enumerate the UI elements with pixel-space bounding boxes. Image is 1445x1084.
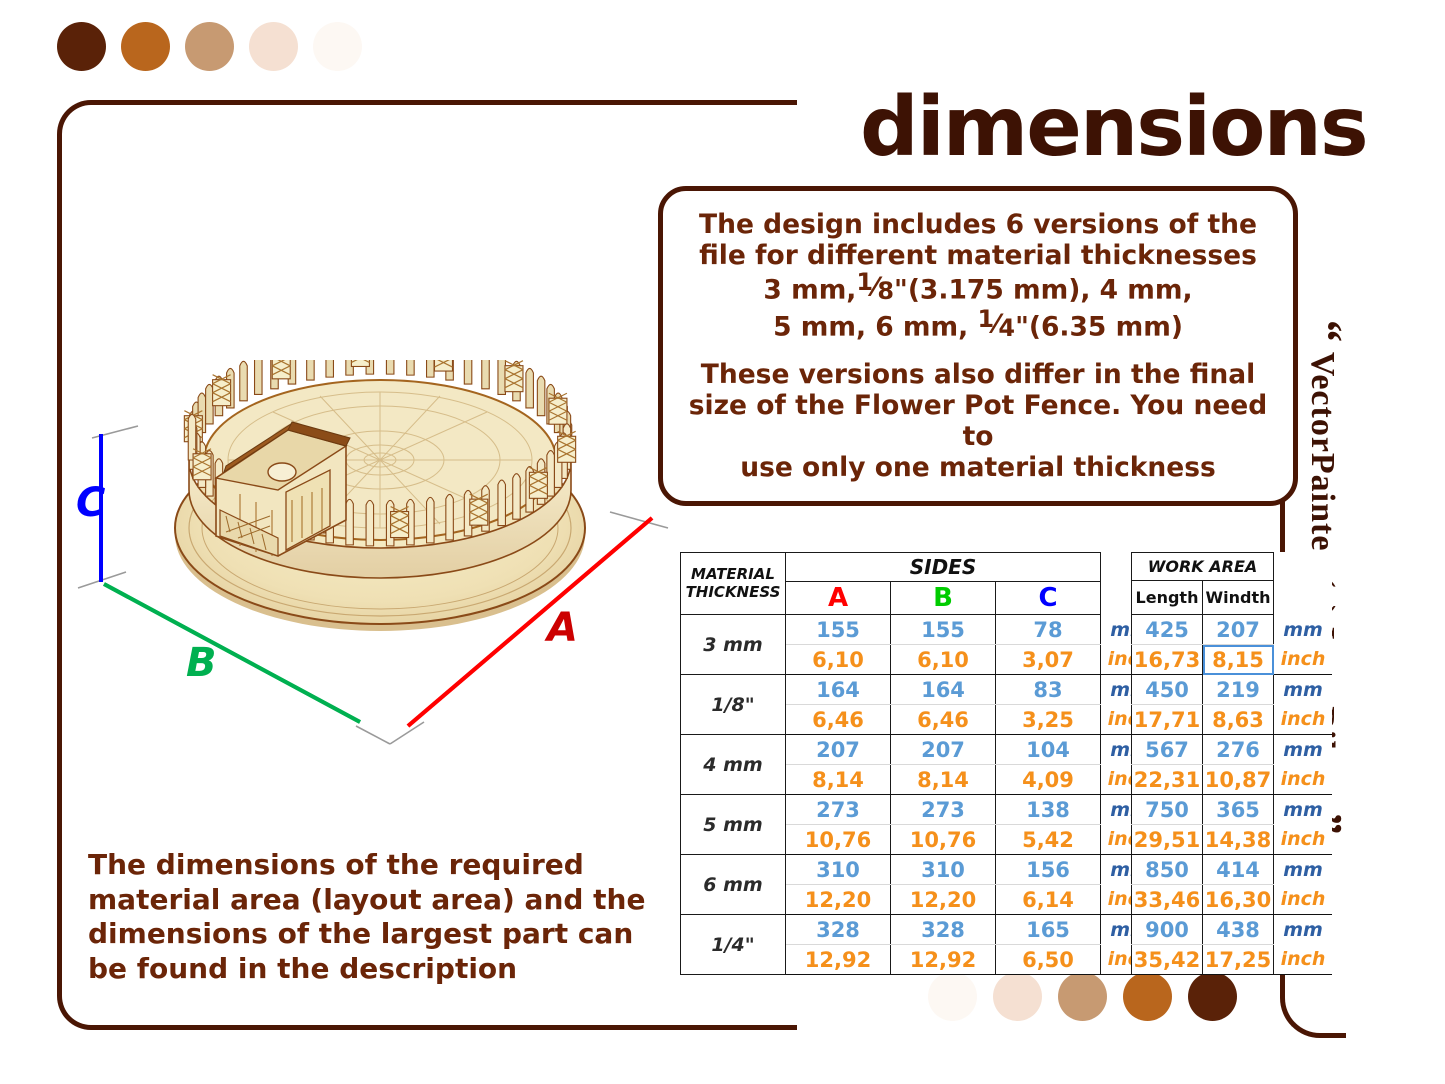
- fence-picket: [482, 360, 490, 389]
- table-row: 900438mm: [1132, 915, 1333, 945]
- value-cell-mm: 276: [1203, 735, 1274, 765]
- table-row: 17,718,63inch: [1132, 705, 1333, 735]
- fence-lattice-panel: [213, 375, 231, 406]
- table-row: 750365mm: [1132, 795, 1333, 825]
- value-cell-mm: 273: [786, 795, 891, 825]
- table-row: 35,4217,25inch: [1132, 945, 1333, 975]
- dimension-label-b: B: [186, 640, 217, 686]
- table-row: 16,738,15inch: [1132, 645, 1333, 675]
- unit-label-mm: mm: [1274, 915, 1333, 945]
- value-cell-mm: 328: [786, 915, 891, 945]
- material-thickness-cell: 1/8": [681, 675, 786, 735]
- fence-picket: [206, 384, 214, 424]
- fence-picket: [537, 376, 545, 416]
- material-thickness-cell: 5 mm: [681, 795, 786, 855]
- value-cell-inch: 33,46: [1132, 885, 1203, 915]
- value-cell-inch: 3,25: [996, 705, 1101, 735]
- value-cell-mm: 164: [786, 675, 891, 705]
- value-cell-mm: 414: [1203, 855, 1274, 885]
- fence-picket: [427, 497, 435, 543]
- group-header-sides: SIDES: [786, 553, 1101, 582]
- table-row: 1/8"16416483mm: [681, 675, 1160, 705]
- value-cell-inch: 6,10: [891, 645, 996, 675]
- table-row: 4 mm207207104mm: [681, 735, 1160, 765]
- fence-picket: [547, 451, 555, 497]
- sides-table: MATERIAL THICKNESS SIDES A B C 3 mm15515…: [680, 552, 1159, 975]
- fence-picket: [326, 360, 334, 377]
- swatch-cream: [313, 22, 362, 71]
- value-cell-inch: 6,46: [786, 705, 891, 735]
- fence-lattice-panel: [470, 494, 488, 525]
- value-cell-inch: 4,09: [996, 765, 1101, 795]
- color-swatch-row-bottom: [928, 972, 1237, 1021]
- value-cell-mm: 78: [996, 615, 1101, 645]
- fence-picket: [498, 360, 506, 394]
- fence-picket: [464, 360, 472, 384]
- unit-label-inch: inch: [1274, 765, 1333, 795]
- value-cell-inch: 6,46: [891, 705, 996, 735]
- dimension-label-c: C: [76, 480, 105, 526]
- info-line-3: 3 mm,1⁄8"(3.175 mm), 4 mm,: [677, 271, 1279, 308]
- value-cell-inch: 6,50: [996, 945, 1101, 975]
- fraction-one-quarter: 1⁄4: [977, 305, 1015, 342]
- value-cell-mm: 219: [1203, 675, 1274, 705]
- info-line-3-pre: 3 mm,: [763, 274, 856, 305]
- table-row: 1/4"328328165mm: [681, 915, 1160, 945]
- swatch-brown: [1123, 972, 1172, 1021]
- table-row: 6 mm310310156mm: [681, 855, 1160, 885]
- value-cell-inch: 8,14: [786, 765, 891, 795]
- work-area-table: WORK AREA Length Windth 425207mm16,738,1…: [1131, 552, 1332, 975]
- column-header-a: A: [786, 582, 891, 615]
- swatch-dark-brown: [1188, 972, 1237, 1021]
- material-thickness-cell: 6 mm: [681, 855, 786, 915]
- description-note: The dimensions of the required material …: [88, 848, 663, 987]
- value-cell-mm: 104: [996, 735, 1101, 765]
- value-cell-inch: 8,14: [891, 765, 996, 795]
- fence-lattice-panel: [272, 360, 290, 379]
- value-cell-mm: 365: [1203, 795, 1274, 825]
- table-row: 425207mm: [1132, 615, 1333, 645]
- poster-canvas: dimensions The design includes 6 version…: [0, 0, 1445, 1084]
- value-cell-inch: 22,31: [1132, 765, 1203, 795]
- table-row: 5 mm273273138mm: [681, 795, 1160, 825]
- table-row: 3 mm15515578mm: [681, 615, 1160, 645]
- swatch-tan: [185, 22, 234, 71]
- unit-label-mm: mm: [1274, 735, 1333, 765]
- swatch-peach: [249, 22, 298, 71]
- fence-picket: [427, 360, 435, 377]
- fence-lattice-panel: [558, 431, 576, 462]
- fence-picket: [307, 360, 315, 380]
- table-row: 33,4616,30inch: [1132, 885, 1333, 915]
- fence-lattice-panel: [529, 467, 547, 498]
- fence-picket: [498, 480, 506, 526]
- row-header-line-2: THICKNESS: [681, 584, 785, 601]
- value-cell-inch: 12,20: [891, 885, 996, 915]
- info-line-3-post: "(3.175 mm), 4 mm,: [894, 274, 1193, 305]
- column-header-length: Length: [1132, 581, 1203, 615]
- fence-picket: [188, 415, 196, 461]
- material-thickness-cell: 4 mm: [681, 735, 786, 795]
- info-paragraph-2: These versions also differ in the final …: [677, 359, 1279, 483]
- fence-lattice-panel: [391, 507, 409, 538]
- value-cell-inch: 16,73: [1132, 645, 1203, 675]
- value-cell-mm: 156: [996, 855, 1101, 885]
- fraction-denominator: 8: [877, 277, 894, 305]
- value-cell-mm: 273: [891, 795, 996, 825]
- value-cell-inch: 8,63: [1203, 705, 1274, 735]
- info-para2-line-1: These versions also differ in the final: [677, 359, 1279, 390]
- color-swatch-row-top: [57, 22, 362, 71]
- unit-label-inch: inch: [1274, 825, 1333, 855]
- table-row: 29,5114,38inch: [1132, 825, 1333, 855]
- value-cell-inch: 10,76: [891, 825, 996, 855]
- info-line-4: 5 mm, 6 mm, 1⁄4"(6.35 mm): [677, 308, 1279, 345]
- fence-picket: [526, 368, 534, 408]
- fence-picket: [366, 500, 374, 546]
- value-cell-mm: 207: [1203, 615, 1274, 645]
- value-cell-mm: 567: [1132, 735, 1203, 765]
- unit-label-mm: mm: [1274, 795, 1333, 825]
- watermark-open-quote: “: [1302, 320, 1351, 343]
- value-cell-inch: 29,51: [1132, 825, 1203, 855]
- fraction-numerator: 1: [977, 305, 994, 333]
- value-cell-inch: 12,92: [891, 945, 996, 975]
- value-cell-mm: 83: [996, 675, 1101, 705]
- fence-lattice-panel: [351, 360, 369, 366]
- value-cell-mm: 155: [891, 615, 996, 645]
- fence-picket: [513, 474, 521, 520]
- value-cell-inch: 10,76: [786, 825, 891, 855]
- table-row: 22,3110,87inch: [1132, 765, 1333, 795]
- column-header-c: C: [996, 582, 1101, 615]
- work-area-group-header-row: WORK AREA: [1132, 553, 1333, 581]
- info-line-4-pre: 5 mm, 6 mm,: [773, 311, 968, 342]
- material-thickness-cell: 3 mm: [681, 615, 786, 675]
- fence-picket: [386, 360, 394, 374]
- row-header-material-thickness: MATERIAL THICKNESS: [681, 553, 786, 615]
- value-cell-inch: 12,20: [786, 885, 891, 915]
- fence-picket: [255, 360, 263, 394]
- value-cell-inch: 16,30: [1203, 885, 1274, 915]
- value-cell-inch: 6,14: [996, 885, 1101, 915]
- unit-label-inch: inch: [1274, 885, 1333, 915]
- fraction-one-eighth: 1⁄8: [856, 268, 894, 305]
- unit-label-inch: inch: [1274, 645, 1333, 675]
- value-cell-mm: 138: [996, 795, 1101, 825]
- work-area-column-header-row: Length Windth: [1132, 581, 1333, 615]
- unit-label-inch: inch: [1274, 945, 1333, 975]
- value-cell-mm: 165: [996, 915, 1101, 945]
- table-row: 567276mm: [1132, 735, 1333, 765]
- value-cell-mm: 900: [1132, 915, 1203, 945]
- value-cell-mm: 425: [1132, 615, 1203, 645]
- value-cell-mm: 207: [891, 735, 996, 765]
- material-thickness-cell: 1/4": [681, 915, 786, 975]
- product-illustration: [160, 360, 600, 680]
- unit-label-mm: mm: [1274, 615, 1333, 645]
- selected-value-cell-inch[interactable]: 8,15: [1203, 645, 1274, 675]
- work-area-table-body: 425207mm16,738,15inch450219mm17,718,63in…: [1132, 615, 1333, 975]
- fence-lattice-panel: [549, 393, 567, 424]
- unit-label-inch: inch: [1274, 705, 1333, 735]
- fence-picket: [446, 494, 454, 539]
- swatch-brown: [121, 22, 170, 71]
- info-para2-line-3: use only one material thickness: [677, 452, 1279, 483]
- fence-picket: [407, 360, 415, 375]
- value-cell-inch: 35,42: [1132, 945, 1203, 975]
- info-para2-line-2: size of the Flower Pot Fence. You need t…: [677, 390, 1279, 452]
- value-cell-mm: 750: [1132, 795, 1203, 825]
- swatch-dark-brown: [57, 22, 106, 71]
- fraction-numerator: 1: [856, 268, 873, 296]
- table-row: 850414mm: [1132, 855, 1333, 885]
- fraction-denominator: 4: [998, 314, 1015, 342]
- swatch-cream: [928, 972, 977, 1021]
- value-cell-mm: 328: [891, 915, 996, 945]
- value-cell-inch: 17,71: [1132, 705, 1203, 735]
- column-header-b: B: [891, 582, 996, 615]
- value-cell-mm: 155: [786, 615, 891, 645]
- info-line-2: file for different material thicknesses: [677, 240, 1279, 271]
- unit-label-mm: mm: [1274, 675, 1333, 705]
- value-cell-inch: 3,07: [996, 645, 1101, 675]
- value-cell-mm: 310: [786, 855, 891, 885]
- unit-label-mm: mm: [1274, 855, 1333, 885]
- fence-lattice-panel: [434, 360, 452, 371]
- value-cell-mm: 164: [891, 675, 996, 705]
- info-line-1: The design includes 6 versions of the: [677, 209, 1279, 240]
- column-header-windth: Windth: [1203, 581, 1274, 615]
- value-cell-mm: 450: [1132, 675, 1203, 705]
- group-header-work-area: WORK AREA: [1132, 553, 1274, 581]
- swatch-peach: [993, 972, 1042, 1021]
- swatch-tan: [1058, 972, 1107, 1021]
- value-cell-inch: 14,38: [1203, 825, 1274, 855]
- info-line-4-post: "(6.35 mm): [1015, 311, 1183, 342]
- table-row: 450219mm: [1132, 675, 1333, 705]
- value-cell-inch: 17,25: [1203, 945, 1274, 975]
- fence-lattice-panel: [193, 449, 211, 480]
- value-cell-inch: 6,10: [786, 645, 891, 675]
- info-box: The design includes 6 versions of the fi…: [658, 186, 1298, 506]
- value-cell-mm: 207: [786, 735, 891, 765]
- dimension-label-a: A: [547, 605, 578, 651]
- value-cell-inch: 10,87: [1203, 765, 1274, 795]
- fence-picket: [346, 499, 354, 545]
- value-cell-mm: 310: [891, 855, 996, 885]
- fence-lattice-panel: [505, 361, 523, 392]
- sides-table-body: 3 mm15515578mm6,106,103,07inch1/8"164164…: [681, 615, 1160, 975]
- row-header-line-1: MATERIAL: [681, 566, 785, 583]
- value-cell-mm: 438: [1203, 915, 1274, 945]
- value-cell-mm: 850: [1132, 855, 1203, 885]
- sides-group-header-row: MATERIAL THICKNESS SIDES: [681, 553, 1160, 582]
- value-cell-inch: 12,92: [786, 945, 891, 975]
- fence-picket: [240, 361, 248, 401]
- info-paragraph-1: The design includes 6 versions of the fi…: [677, 209, 1279, 345]
- page-title: dimensions: [860, 80, 1367, 175]
- value-cell-inch: 5,42: [996, 825, 1101, 855]
